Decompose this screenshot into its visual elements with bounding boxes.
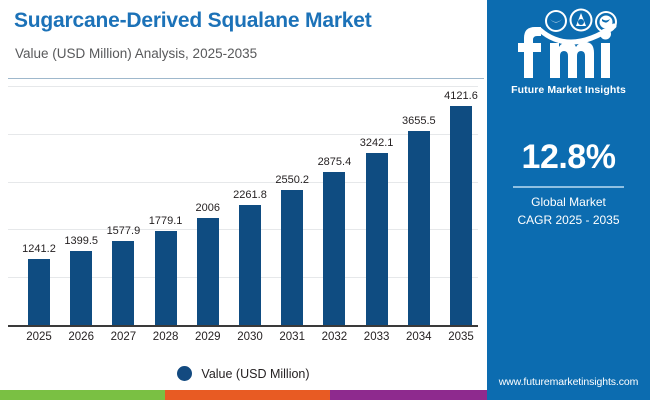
bar[interactable] <box>112 241 134 325</box>
bar[interactable] <box>323 172 345 325</box>
bar-group[interactable]: 3242.12033 <box>356 0 398 326</box>
bar[interactable] <box>155 231 177 325</box>
infographic-root: Sugarcane-Derived Squalane Market Value … <box>0 0 650 400</box>
cagr-divider <box>513 186 624 188</box>
bar-group[interactable]: 2875.42032 <box>313 0 355 326</box>
legend-label: Value (USD Million) <box>201 367 309 381</box>
cagr-value: 12.8% <box>487 138 650 177</box>
cagr-caption-line2: CAGR 2025 - 2035 <box>487 211 650 229</box>
bar-value-label: 4121.6 <box>431 90 491 102</box>
bar[interactable] <box>197 218 219 325</box>
stripe-orange <box>165 390 330 400</box>
footer-stripes <box>0 390 487 400</box>
chart-legend: Value (USD Million) <box>0 366 487 381</box>
bar-group[interactable]: 3655.52034 <box>398 0 440 326</box>
cagr-caption: Global Market CAGR 2025 - 2035 <box>487 193 650 229</box>
bar[interactable] <box>281 190 303 325</box>
fmi-logo[interactable]: Future Market Insights <box>487 8 650 96</box>
cagr-caption-line1: Global Market <box>487 193 650 211</box>
bar[interactable] <box>366 153 388 325</box>
bar-group[interactable]: 1577.92027 <box>102 0 144 326</box>
fmi-logo-icon <box>510 8 628 82</box>
bar-group[interactable]: 4121.62035 <box>440 0 482 326</box>
bar[interactable] <box>450 106 472 325</box>
website-url[interactable]: www.futuremarketinsights.com <box>487 376 650 388</box>
bar[interactable] <box>70 251 92 325</box>
chart-panel: Sugarcane-Derived Squalane Market Value … <box>0 0 487 400</box>
bar-group[interactable]: 1241.22025 <box>18 0 60 326</box>
brand-panel: Future Market Insights 12.8% Global Mark… <box>487 0 650 400</box>
bar-series: 1241.220251399.520261577.920271779.12028… <box>0 0 487 326</box>
bar-group[interactable]: 1399.52026 <box>60 0 102 326</box>
bar-group[interactable]: 20062029 <box>187 0 229 326</box>
x-axis-label: 2035 <box>431 331 491 343</box>
stripe-purple <box>330 390 487 400</box>
bar[interactable] <box>239 205 261 325</box>
legend-marker-icon <box>177 366 192 381</box>
stripe-green <box>0 390 165 400</box>
logo-tagline: Future Market Insights <box>511 84 626 96</box>
bar[interactable] <box>28 259 50 325</box>
bar-group[interactable]: 1779.12028 <box>145 0 187 326</box>
bar-group[interactable]: 2261.82030 <box>229 0 271 326</box>
bar[interactable] <box>408 131 430 325</box>
